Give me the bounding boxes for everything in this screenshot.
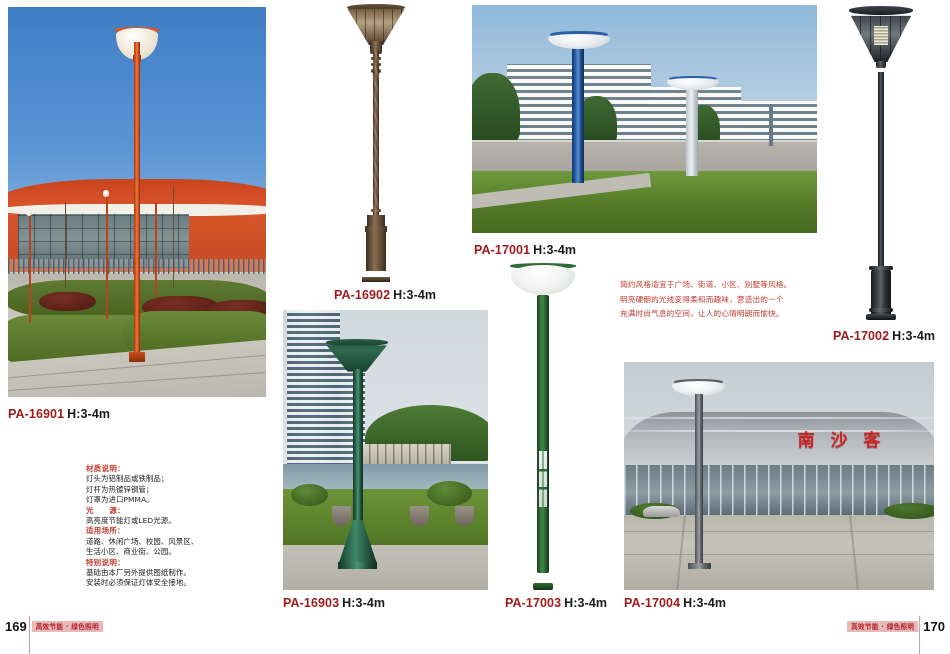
lamp-column <box>537 295 550 574</box>
spec-line: 道路、休闲广场、校园、风景区、 <box>86 537 266 547</box>
caption-pa-17002: PA-17002H:3-4m <box>833 329 935 343</box>
caption-pa-17003: PA-17003H:3-4m <box>505 596 607 610</box>
blurb-line: 明亮硬朗的光线变得柔和而趣味，营造出的一个 <box>620 293 825 308</box>
spec-section: 光 源： 高亮度节能灯或LED光源。 <box>86 506 266 527</box>
product-photo-pa-16903 <box>283 310 488 590</box>
product-code: PA-17002 <box>833 329 889 343</box>
spec-line: 安装时必须保证灯体安全接地。 <box>86 578 266 588</box>
background-lamp-head <box>103 190 109 196</box>
footer-band-right: 高效节能 · 绿色照明 <box>847 621 918 632</box>
product-cutout-pa-17002 <box>827 2 935 320</box>
product-height: H:3-4m <box>680 596 726 610</box>
parked-car <box>643 506 680 517</box>
paving-joint <box>624 554 934 556</box>
building-windows <box>741 101 817 142</box>
product-height: H:3-4m <box>339 596 385 610</box>
base-ring <box>869 308 893 312</box>
roadway <box>472 142 817 174</box>
product-photo-pa-17001 <box>472 5 817 233</box>
spec-heading: 光 源： <box>86 506 266 516</box>
roof-edge <box>624 417 934 419</box>
background-lamp-pole <box>106 194 108 319</box>
spec-heading: 适用场所： <box>86 526 266 536</box>
office-building <box>741 101 817 142</box>
lamp-base <box>688 563 711 570</box>
product-code: PA-17003 <box>505 596 561 610</box>
spec-line: 基础由本厂另外提供图纸制作。 <box>86 568 266 578</box>
product-code: PA-16901 <box>8 407 64 421</box>
product-height: H:3-4m <box>64 407 110 421</box>
caption-pa-16903: PA-16903H:3-4m <box>283 596 385 610</box>
footer-rule-left <box>29 616 30 654</box>
lamp-head <box>511 265 576 295</box>
footer-band-left: 高效节能 · 绿色照明 <box>32 621 103 632</box>
product-cutout-pa-17003 <box>498 258 588 590</box>
page-number-left: 169 <box>0 619 32 634</box>
product-cutout-pa-16902 <box>330 2 422 282</box>
caption-pa-17004: PA-17004H:3-4m <box>624 596 726 610</box>
blurb-line: 充满时尚气息的空间，让人的心情明朗而愉快。 <box>620 307 825 322</box>
bare-tree <box>65 202 66 288</box>
lamp-pole-blue <box>572 37 584 183</box>
shrub <box>291 484 328 506</box>
product-code: PA-16903 <box>283 596 339 610</box>
lamp-pole <box>134 42 141 362</box>
spec-line: 生活小区、商业街、公园。 <box>86 547 266 557</box>
pergola-beams <box>353 444 451 464</box>
shade-collar <box>876 61 886 69</box>
footer-slogan: 高效节能 · 绿色照明 <box>36 621 99 631</box>
footer-right: 高效节能 · 绿色照明 170 <box>765 616 950 636</box>
product-height: H:3-4m <box>390 288 436 302</box>
lamp-pole <box>695 394 702 567</box>
spec-heading: 特别说明： <box>86 558 266 568</box>
caption-pa-16902: PA-16902H:3-4m <box>334 288 436 302</box>
product-code: PA-17004 <box>624 596 680 610</box>
lamp-base <box>129 352 144 361</box>
spec-heading: 材质说明： <box>86 464 266 474</box>
marketing-blurb: 简约风格适宜于广场、街道、小区、别墅等风格。 明亮硬朗的光线变得柔和而趣味，营造… <box>620 278 825 322</box>
product-height: H:3-4m <box>561 596 607 610</box>
lamp-shade <box>347 5 404 46</box>
planter-pot <box>410 506 428 526</box>
blurb-line: 简约风格适宜于广场、街道、小区、别墅等风格。 <box>620 278 825 293</box>
pole-foot <box>367 215 384 226</box>
pole-plinth <box>866 314 896 320</box>
shade-top-rim <box>326 339 388 345</box>
spec-line: 灯头为铝制品或铁制品； <box>86 474 266 484</box>
shrub <box>39 292 96 312</box>
bare-tree <box>173 186 174 287</box>
curb <box>472 140 817 142</box>
footer-slogan: 高效节能 · 绿色照明 <box>851 621 914 631</box>
specification-block: 材质说明： 灯头为铝制品或铁制品； 灯杆为热镀锌钢管； 灯罩为进口PMMA。 光… <box>86 464 266 589</box>
pole-base-plate <box>338 562 377 569</box>
spec-section: 特别说明： 基础由本厂另外提供图纸制作。 安装时必须保证灯体安全接地。 <box>86 558 266 589</box>
product-code: PA-16902 <box>334 288 390 302</box>
lamp-pole <box>878 72 884 276</box>
spec-line: 灯罩为进口PMMA。 <box>86 495 266 505</box>
product-photo-pa-17004: 南 沙 客 <box>624 362 934 590</box>
planter-pot <box>455 506 473 526</box>
column-base-plate <box>533 583 553 590</box>
panel-grid <box>539 451 547 507</box>
building-sign: 南 沙 客 <box>798 426 886 451</box>
paving-joint <box>624 531 934 532</box>
footer-left: 169 高效节能 · 绿色照明 <box>0 616 185 636</box>
pole-plinth <box>362 277 390 282</box>
spec-line: 灯杆为热镀锌钢管； <box>86 485 266 495</box>
shade-ribs <box>347 5 404 46</box>
product-height: H:3-4m <box>889 329 935 343</box>
footer-rule-right <box>919 616 920 654</box>
background-lamp-pole <box>29 214 31 323</box>
high-rise-tower <box>287 310 340 484</box>
page-number-right: 170 <box>918 619 950 634</box>
product-height: H:3-4m <box>530 243 576 257</box>
shade-top-rim <box>849 6 914 14</box>
background-pole <box>769 105 773 146</box>
planter-pot <box>332 506 350 526</box>
tower-windows <box>287 310 340 484</box>
pergola <box>353 444 451 464</box>
pole-base-column <box>366 232 385 271</box>
pole-ring <box>371 209 380 212</box>
plaza-paving <box>624 515 934 590</box>
product-code: PA-17001 <box>474 243 530 257</box>
spec-section: 材质说明： 灯头为铝制品或铁制品； 灯杆为热镀锌钢管； 灯罩为进口PMMA。 <box>86 464 266 506</box>
illuminated-window-panel <box>539 451 547 507</box>
lamp-module <box>874 26 888 45</box>
background-lamp-head <box>26 210 32 216</box>
spec-line: 高亮度节能灯或LED光源。 <box>86 516 266 526</box>
walkway <box>283 545 488 590</box>
shrub <box>427 481 472 506</box>
product-photo-pa-16901 <box>8 7 266 397</box>
caption-pa-16901: PA-16901H:3-4m <box>8 407 110 421</box>
background-lamp-pole <box>155 202 157 296</box>
caption-pa-17001: PA-17001H:3-4m <box>474 243 576 257</box>
catalog-page: PA-16901H:3-4m 材质说明： 灯头为铝制品或铁制品； 灯杆为热镀锌钢… <box>0 0 950 654</box>
lamp-pole-white <box>686 80 698 176</box>
tree-cluster <box>472 73 520 146</box>
spec-section: 适用场所： 道路、休闲广场、校园、风景区、 生活小区、商业街、公园。 <box>86 526 266 557</box>
lamp-pole <box>353 369 363 526</box>
